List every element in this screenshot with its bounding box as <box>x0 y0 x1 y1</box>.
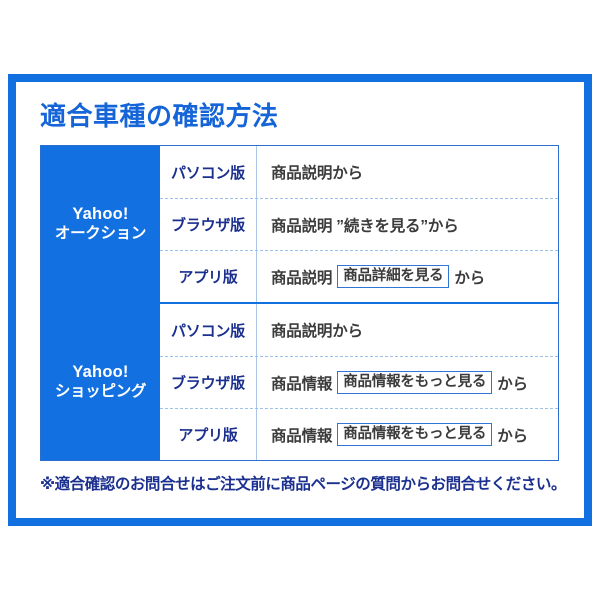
section-rows: パソコン版 商品説明から ブラウザ版 商品説明 ”続きを見る”から <box>160 146 558 302</box>
brand-name-line2: オークション <box>55 225 146 244</box>
row-label-pc: パソコン版 <box>160 320 256 341</box>
row-content: 商品情報 商品情報をもっと見る から <box>257 371 558 394</box>
row-label-pc: パソコン版 <box>160 162 256 183</box>
row-text-prefix: 商品情報 <box>271 372 332 394</box>
inline-button-more-info[interactable]: 商品情報をもっと見る <box>337 423 492 446</box>
table-row: アプリ版 商品説明 商品詳細を見る から <box>160 250 558 302</box>
table-row: アプリ版 商品情報 商品情報をもっと見る から <box>160 408 558 460</box>
row-text-prefix: 商品説明 ”続きを見る”から <box>271 214 459 236</box>
row-label-browser: ブラウザ版 <box>160 372 256 393</box>
table-section-auction: Yahoo! オークション パソコン版 商品説明から ブラウザ版 <box>41 146 558 302</box>
content-panel: 適合車種の確認方法 Yahoo! オークション パソコン版 商品説明から <box>16 82 584 518</box>
row-text-prefix: 商品情報 <box>271 424 332 446</box>
table-row: パソコン版 商品説明から <box>160 146 558 198</box>
brand-cell-shopping: Yahoo! ショッピング <box>41 304 160 460</box>
row-content: 商品情報 商品情報をもっと見る から <box>257 423 558 446</box>
footer-note: ※適合確認のお問合せはご注文前に商品ページの質問からお問合せください。 <box>40 472 568 494</box>
row-text-prefix: 商品説明 <box>271 266 332 288</box>
section-body: Yahoo! オークション パソコン版 商品説明から ブラウザ版 <box>41 146 558 302</box>
row-text-prefix: 商品説明から <box>271 319 363 341</box>
row-label-browser: ブラウザ版 <box>160 214 256 235</box>
inline-button-more-info[interactable]: 商品情報をもっと見る <box>337 371 492 394</box>
row-label-app: アプリ版 <box>160 266 256 287</box>
row-text-suffix: から <box>497 424 528 446</box>
brand-name-line2: ショッピング <box>55 383 146 402</box>
blue-frame: 適合車種の確認方法 Yahoo! オークション パソコン版 商品説明から <box>8 74 592 526</box>
brand-name-line1: Yahoo! <box>72 204 128 224</box>
row-content: 商品説明から <box>257 161 558 183</box>
row-text-prefix: 商品説明から <box>271 161 363 183</box>
brand-name-line1: Yahoo! <box>72 362 128 382</box>
row-text-suffix: から <box>497 372 528 394</box>
section-rows: パソコン版 商品説明から ブラウザ版 商品情報 商品情報をもっと見る <box>160 304 558 460</box>
row-label-app: アプリ版 <box>160 424 256 445</box>
brand-cell-auction: Yahoo! オークション <box>41 146 160 302</box>
compatibility-table: Yahoo! オークション パソコン版 商品説明から ブラウザ版 <box>40 145 559 461</box>
table-row: パソコン版 商品説明から <box>160 304 558 356</box>
section-body: Yahoo! ショッピング パソコン版 商品説明から ブラウザ版 <box>41 304 558 460</box>
row-content: 商品説明 商品詳細を見る から <box>257 265 558 288</box>
row-content: 商品説明 ”続きを見る”から <box>257 214 558 236</box>
row-content: 商品説明から <box>257 319 558 341</box>
table-row: ブラウザ版 商品情報 商品情報をもっと見る から <box>160 356 558 408</box>
table-section-shopping: Yahoo! ショッピング パソコン版 商品説明から ブラウザ版 <box>41 302 558 460</box>
inline-button-product-detail[interactable]: 商品詳細を見る <box>337 265 449 288</box>
page-title: 適合車種の確認方法 <box>40 96 279 133</box>
row-text-suffix: から <box>454 266 485 288</box>
table-row: ブラウザ版 商品説明 ”続きを見る”から <box>160 198 558 250</box>
